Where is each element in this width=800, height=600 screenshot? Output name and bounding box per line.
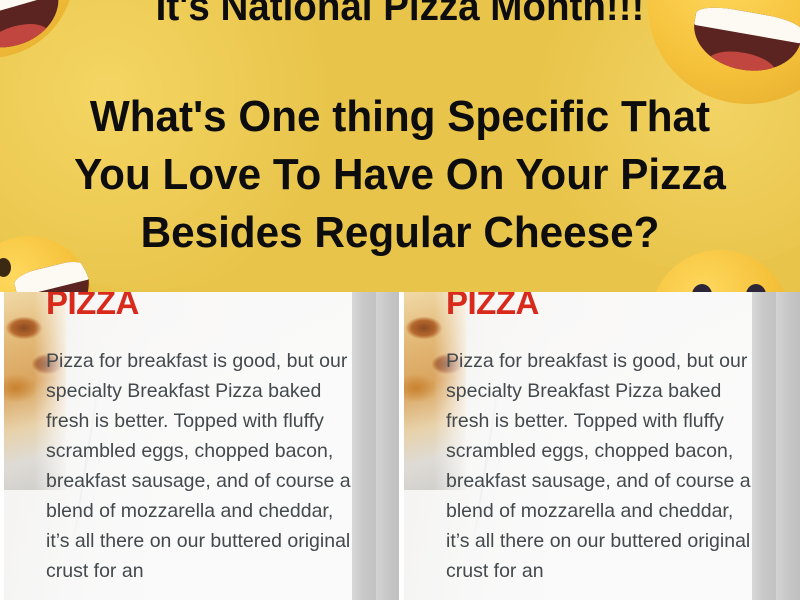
emoji-eye-icon (746, 284, 766, 292)
card-title: PIZZA (46, 292, 362, 320)
pizza-card-panel-right[interactable]: PIZZA Pizza for breakfast is good, but o… (400, 292, 800, 600)
emoji-eye-icon (692, 284, 712, 292)
panel-divider (399, 292, 401, 600)
pizza-card[interactable]: PIZZA Pizza for breakfast is good, but o… (4, 292, 376, 600)
emoji-eye-icon (0, 258, 11, 277)
card-title: PIZZA (446, 292, 762, 320)
screenshot-root: It's National Pizza Month!!! What's One … (0, 0, 800, 600)
card-body-text: Pizza for breakfast is good, but our spe… (446, 346, 758, 586)
panel-right-gutter (776, 292, 800, 600)
panel-right-gutter (376, 292, 400, 600)
pizza-card-panel-left[interactable]: PIZZA Pizza for breakfast is good, but o… (0, 292, 400, 600)
pizza-month-banner: It's National Pizza Month!!! What's One … (0, 0, 800, 292)
card-right-gutter (752, 292, 776, 600)
card-body-text: Pizza for breakfast is good, but our spe… (46, 346, 358, 586)
banner-headline-question: What's One thing Specific That You Love … (54, 88, 745, 262)
emoji-teeth-icon (12, 258, 89, 292)
banner-headline-primary: It's National Pizza Month!!! (24, 0, 776, 29)
card-right-gutter (352, 292, 376, 600)
pizza-card[interactable]: PIZZA Pizza for breakfast is good, but o… (404, 292, 776, 600)
card-content: PIZZA Pizza for breakfast is good, but o… (446, 292, 762, 566)
emoji-tongue-icon (705, 46, 778, 79)
pizza-card-row: PIZZA Pizza for breakfast is good, but o… (0, 292, 800, 600)
card-content: PIZZA Pizza for breakfast is good, but o… (46, 292, 362, 566)
emoji-mouth-icon (12, 258, 92, 292)
